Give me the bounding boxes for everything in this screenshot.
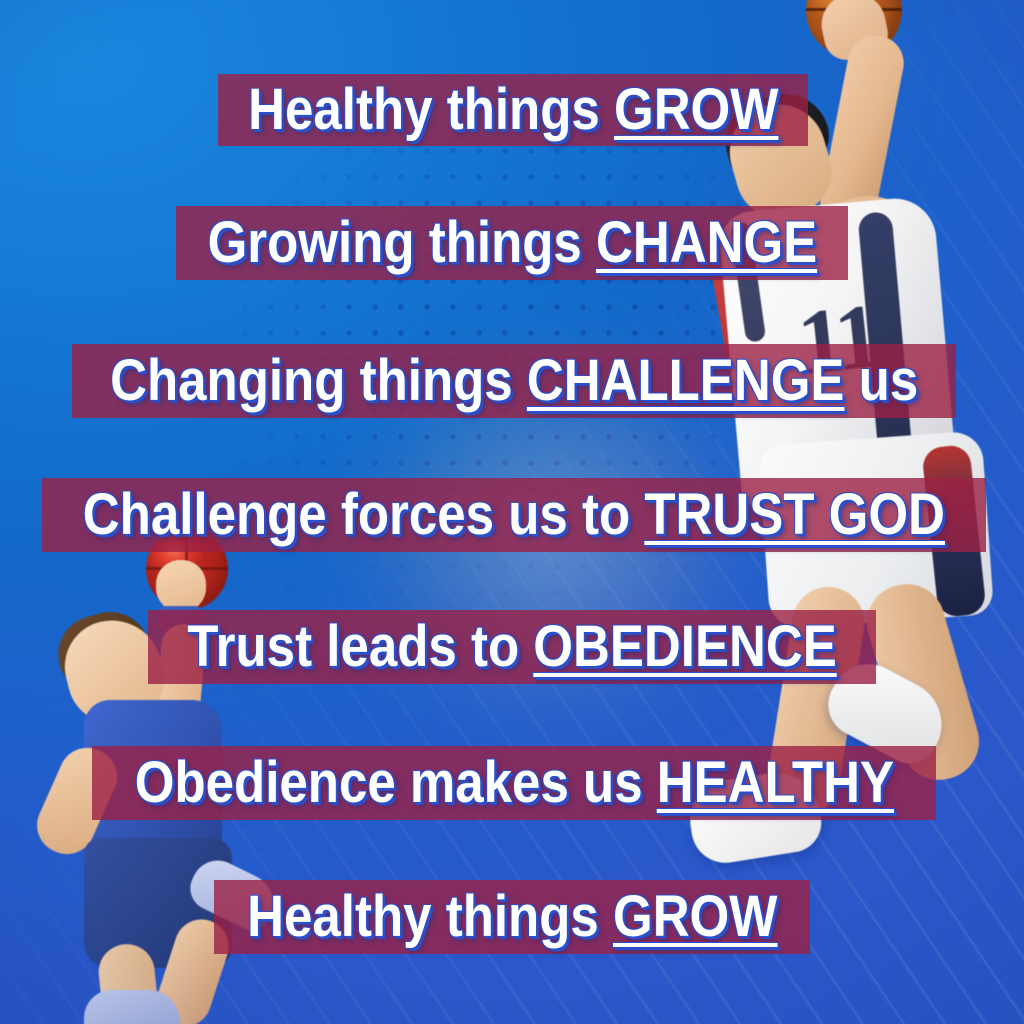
poster: 11 Healthy things GROW Growing things CH…	[0, 0, 1024, 1024]
vignette-overlay	[0, 0, 1024, 1024]
